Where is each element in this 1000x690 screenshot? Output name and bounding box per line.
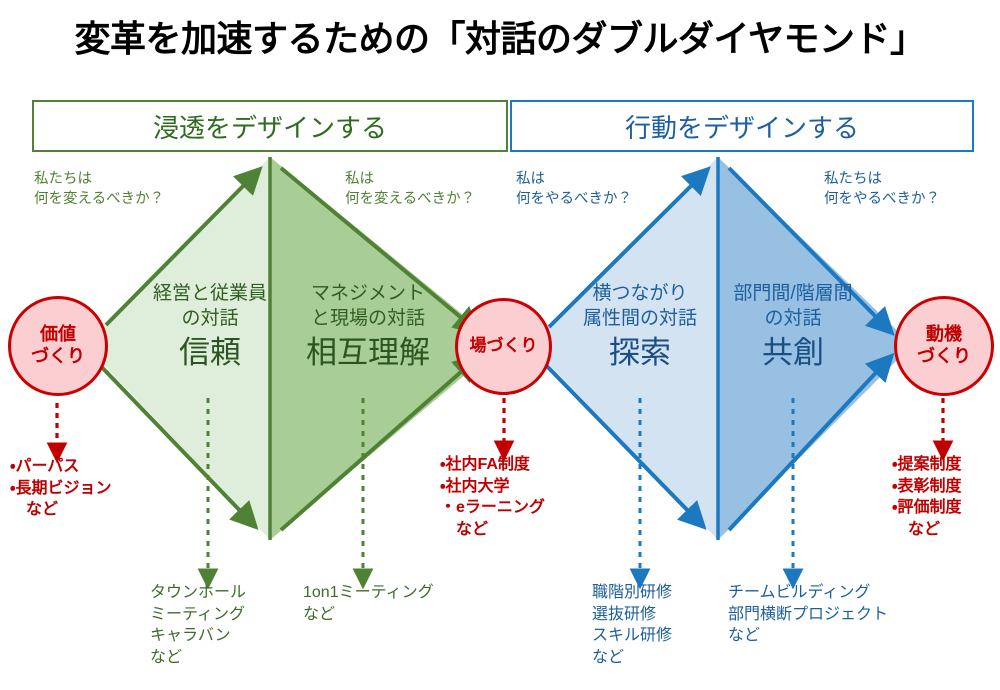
quadrant-trust-main: 信頼 — [130, 335, 290, 371]
note-value-making: ・パーパス ・長期ビジョン など — [10, 456, 111, 521]
header-box-action[interactable]: 行動をデザインする — [510, 100, 974, 152]
circle-value-making[interactable]: 価値 づくり — [8, 296, 108, 396]
circle-motivation-line2: づくり — [917, 346, 971, 368]
quadrant-cocreation-main: 共創 — [713, 335, 873, 371]
note-mutual-understanding: 1on1ミーティング など — [303, 582, 434, 625]
note-explore: 職階別研修 選抜研修 スキル研修 など — [592, 582, 672, 668]
quadrant-explore-sub1: 横つながり — [560, 282, 720, 307]
note-cocreation-line-1: チームビルディング — [728, 582, 888, 604]
note-mutual-line-1: 1on1ミーティング — [303, 582, 434, 604]
question-2-line1: 私は — [345, 170, 475, 190]
note-trust-line-3: キャラバン — [150, 625, 246, 647]
note-place-making: ・社内FA制度 ・社内大学 ・eラーニング など — [440, 454, 545, 540]
circle-motivation-making[interactable]: 動機 づくり — [894, 296, 994, 396]
header-box-penetration[interactable]: 浸透をデザインする — [32, 100, 508, 152]
quadrant-explore: 横つながり 属性間の対話 探索 — [560, 282, 720, 371]
diagram-canvas: 変革を加速するための「対話のダブルダイヤモンド」 — [0, 0, 1000, 690]
note-cocreation-line-2: 部門横断プロジェクト — [728, 604, 888, 626]
question-1-line2: 何を変えるべきか？ — [34, 190, 164, 210]
quadrant-mutual-sub1: マネジメント — [288, 282, 448, 307]
note-explore-line-2: 選抜研修 — [592, 604, 672, 626]
note-trust-line-1: タウンホール — [150, 582, 246, 604]
quadrant-mutual-main: 相互理解 — [288, 335, 448, 371]
note-cocreation-line-3: など — [728, 625, 888, 647]
circle-place-making[interactable]: 場づくり — [455, 298, 552, 395]
note-motivation-line-3: ・評価制度 — [892, 497, 961, 519]
question-2-line2: 何を変えるべきか？ — [345, 190, 475, 210]
question-4-line2: 何をやるべきか？ — [824, 190, 940, 210]
question-label-4: 私たちは 何をやるべきか？ — [824, 170, 940, 209]
note-place-making-line-2: ・社内大学 — [440, 476, 545, 498]
question-1-line1: 私たちは — [34, 170, 164, 190]
header-label-action: 行動をデザインする — [625, 108, 859, 145]
quadrant-trust: 経営と従業員 の対話 信頼 — [130, 282, 290, 371]
quadrant-cocreation: 部門間/階層間 の対話 共創 — [713, 282, 873, 371]
note-explore-line-1: 職階別研修 — [592, 582, 672, 604]
quadrant-mutual-sub2: と現場の対話 — [288, 307, 448, 332]
note-value-making-line-2: ・長期ビジョン — [10, 478, 111, 500]
circle-value-making-line2: づくり — [31, 346, 85, 368]
note-place-making-line-3: ・eラーニング — [440, 497, 545, 519]
note-motivation-line-1: ・提案制度 — [892, 454, 961, 476]
note-trust-line-4: など — [150, 647, 246, 669]
note-place-making-line-4: など — [440, 519, 545, 541]
question-label-2: 私は 何を変えるべきか？ — [345, 170, 475, 209]
note-explore-line-4: など — [592, 647, 672, 669]
circle-place-making-line1: 場づくり — [470, 336, 538, 356]
note-motivation: ・提案制度 ・表彰制度 ・評価制度 など — [892, 454, 961, 540]
note-motivation-line-4: など — [892, 519, 961, 541]
question-label-3: 私は 何をやるべきか？ — [516, 170, 632, 209]
note-mutual-line-2: など — [303, 604, 434, 626]
note-motivation-line-2: ・表彰制度 — [892, 476, 961, 498]
note-explore-line-3: スキル研修 — [592, 625, 672, 647]
circle-motivation-line1: 動機 — [926, 324, 962, 346]
quadrant-explore-sub2: 属性間の対話 — [560, 307, 720, 332]
note-value-making-line-3: など — [10, 499, 111, 521]
quadrant-explore-main: 探索 — [560, 335, 720, 371]
quadrant-cocreation-sub1: 部門間/階層間 — [713, 282, 873, 307]
quadrant-trust-sub1: 経営と従業員 — [130, 282, 290, 307]
quadrant-cocreation-sub2: の対話 — [713, 307, 873, 332]
note-cocreation: チームビルディング 部門横断プロジェクト など — [728, 582, 888, 647]
question-label-1: 私たちは 何を変えるべきか？ — [34, 170, 164, 209]
question-4-line1: 私たちは — [824, 170, 940, 190]
header-label-penetration: 浸透をデザインする — [153, 108, 387, 145]
note-trust-line-2: ミーティング — [150, 604, 246, 626]
note-value-making-line-1: ・パーパス — [10, 456, 111, 478]
question-3-line2: 何をやるべきか？ — [516, 190, 632, 210]
quadrant-trust-sub2: の対話 — [130, 307, 290, 332]
quadrant-mutual-understanding: マネジメント と現場の対話 相互理解 — [288, 282, 448, 371]
note-trust: タウンホール ミーティング キャラバン など — [150, 582, 246, 668]
question-3-line1: 私は — [516, 170, 632, 190]
note-place-making-line-1: ・社内FA制度 — [440, 454, 545, 476]
circle-value-making-line1: 価値 — [40, 324, 76, 346]
